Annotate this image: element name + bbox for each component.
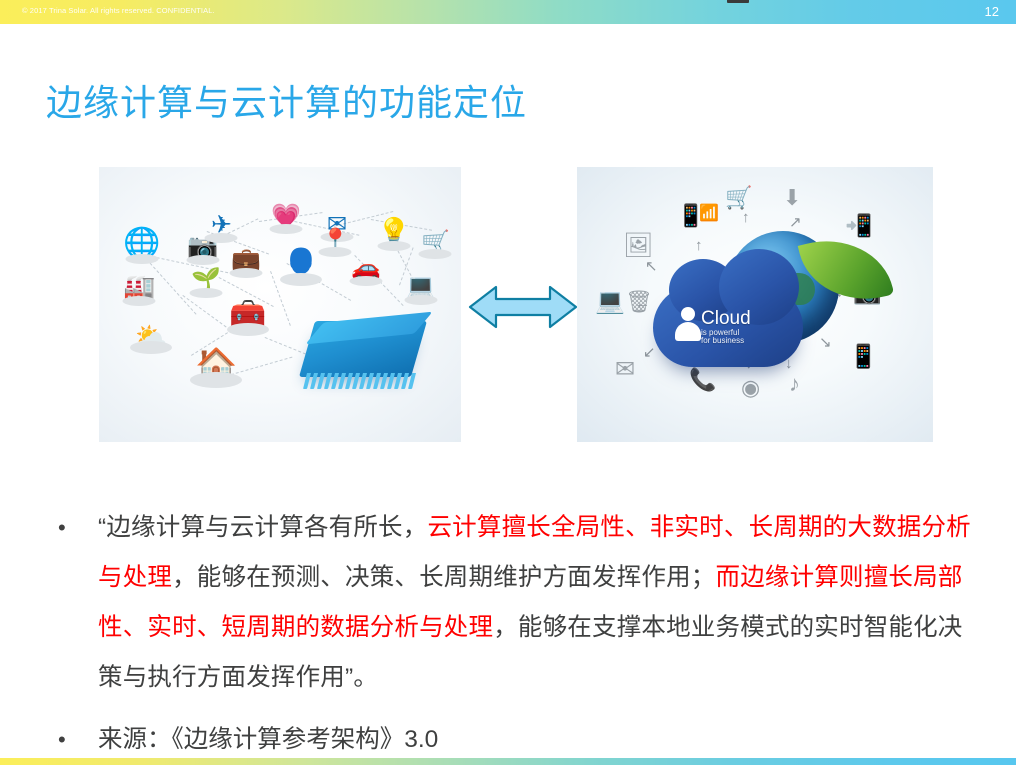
user-avatar-icon xyxy=(675,307,701,341)
heart-monitor-icon: 💗 xyxy=(271,205,301,229)
pie-chart-icon: ◉ xyxy=(741,375,760,401)
house-icon: 🏠 xyxy=(195,349,237,383)
cloud-label-line3: for business xyxy=(701,337,751,345)
shopping-cart-icon: 🛒 xyxy=(725,185,752,211)
music-note-icon: ♪ xyxy=(789,371,800,397)
bottom-gradient-bar xyxy=(0,758,1016,765)
slide: © 2017 Trina Solar. All rights reserved.… xyxy=(0,0,1016,765)
page-number: 12 xyxy=(985,4,999,19)
car-icon: 🚗 xyxy=(351,257,381,281)
computer-tower-icon: 🗑 xyxy=(625,289,653,315)
person-icon: 👤 xyxy=(281,249,321,281)
quote-seg-3: ，能够在预测、决策、长周期维护方面发挥作用； xyxy=(172,564,715,591)
bullet-item-quote: • “边缘计算与云计算各有所长，云计算擅长全局性、非实时、长周期的大数据分析与处… xyxy=(58,503,978,703)
briefcase-icon: 💼 xyxy=(231,249,261,273)
monitor-icon: 💻 xyxy=(595,287,625,316)
microchip-icon xyxy=(299,315,427,393)
quote-seg-1: “边缘计算与云计算各有所长， xyxy=(98,514,427,541)
wifi-signal-icon: 📶 xyxy=(699,203,719,223)
globe-icon: 🌐 xyxy=(123,229,160,259)
weather-cloud-sun-icon: ⛅ xyxy=(135,323,167,349)
chip-pins xyxy=(305,373,423,391)
bullet-item-source: • 来源：《边缘计算参考架构》3.0 xyxy=(58,717,978,763)
smartphone-icon: 📲 xyxy=(845,213,872,239)
tablet-icon: 🖼 xyxy=(623,231,653,260)
plant-icon: 🌱 xyxy=(191,269,221,293)
top-clipped-marker xyxy=(727,0,749,3)
top-gradient-bar: © 2017 Trina Solar. All rights reserved.… xyxy=(0,0,1016,24)
cloud-label-line1: Cloud xyxy=(701,309,751,329)
quote-paragraph: “边缘计算与云计算各有所长，云计算擅长全局性、非实时、长周期的大数据分析与处理，… xyxy=(98,503,978,703)
download-icon: ⬇ xyxy=(783,185,801,211)
bullet-marker: • xyxy=(58,717,98,763)
factory-icon: 🏭 xyxy=(123,275,155,301)
envelope-icon: ✉ xyxy=(615,355,635,384)
tablet-device-icon: 📱 xyxy=(849,343,878,370)
cloud-label: Cloud is powerful for business xyxy=(701,309,751,346)
phone-icon: 📞 xyxy=(689,367,716,393)
page-title: 边缘计算与云计算的功能定位 xyxy=(46,74,527,126)
copyright-notice: © 2017 Trina Solar. All rights reserved.… xyxy=(22,6,215,15)
figure-edge-computing: 🌐 📷 ✈ 💗 ✉ 📍 💡 🛒 💼 👤 🚗 💻 🌱 🧰 xyxy=(99,167,461,442)
airplane-icon: ✈ xyxy=(211,213,232,238)
shopping-cart-icon: 🛒 xyxy=(421,231,450,254)
bullet-list: • “边缘计算与云计算各有所长，云计算擅长全局性、非实时、长周期的大数据分析与处… xyxy=(58,503,978,763)
bullet-marker: • xyxy=(58,503,98,553)
double-headed-arrow-icon xyxy=(468,283,578,331)
location-pin-icon: 📍 xyxy=(321,229,350,252)
laptop-video-icon: 💻 xyxy=(405,275,436,300)
figure-cloud-computing: ↑ ↑ ↗ → ↘ ↖ ← ↙ ↓ ↓ ↓ 🛒 ⬇ 📱 📶 📲 🖼 💻 🗑 📷 … xyxy=(577,167,933,442)
refrigerator-icon: 🧰 xyxy=(229,301,266,331)
source-text: 来源：《边缘计算参考架构》3.0 xyxy=(98,717,978,763)
lightbulb-icon: 💡 xyxy=(377,219,411,246)
